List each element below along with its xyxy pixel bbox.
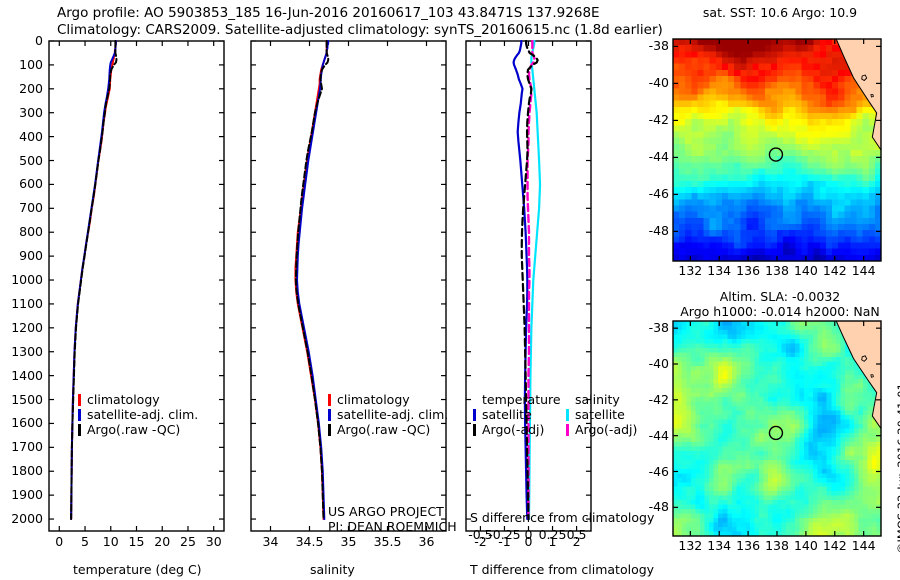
y-tick-label: 2000	[0, 511, 43, 526]
y-tick-label: 700	[0, 200, 43, 215]
y-tick-label: 800	[0, 224, 43, 239]
x-tick-label: 35	[327, 534, 371, 549]
y-tick-label: 100	[0, 57, 43, 72]
temperature-difference-axis-label: T difference from climatology	[470, 562, 654, 577]
legend-item-argo-raw: Argo(.raw -QC)	[78, 422, 198, 437]
sla-map-title-line2: Argo h1000: -0.014 h2000: NaN	[660, 304, 900, 319]
legend-label-climatology-sal: climatology	[337, 392, 410, 407]
map-lat-tick-label: -46	[636, 186, 669, 201]
legend-swatch-argo-adj-temp	[473, 424, 476, 436]
y-tick-label: 1200	[0, 320, 43, 335]
salinity-xaxis-label: salinity	[310, 562, 355, 577]
legend-item-argo-adj-temp: Argo(-adj)	[473, 422, 561, 437]
legend-label-argo-raw: Argo(.raw -QC)	[87, 422, 180, 437]
y-tick-label: 1100	[0, 296, 43, 311]
legend-swatch-satellite-adj-clim-sal	[328, 409, 331, 421]
imos-credit: ©IMOS 22-Jun-2016 20:41:01	[895, 383, 900, 554]
legend-item-satellite-adj-clim: satellite-adj. clim.	[78, 407, 198, 422]
legend-header-salinity: salinity	[566, 392, 637, 407]
legend-swatch-satellite-sal	[566, 409, 569, 421]
sst-map-title: sat. SST: 10.6 Argo: 10.9	[675, 5, 885, 20]
y-tick-label: 1500	[0, 392, 43, 407]
map-lat-tick-label: -38	[636, 38, 669, 53]
map-lat-tick-label: -40	[636, 356, 669, 371]
y-tick-label: 500	[0, 153, 43, 168]
legend-header-temperature: temperature	[473, 392, 561, 407]
legend-swatch-argo-raw-sal	[328, 424, 331, 436]
y-tick-label: 600	[0, 176, 43, 191]
map-lat-tick-label: -46	[636, 464, 669, 479]
legend-label-argo-adj-sal: Argo(-adj)	[575, 422, 637, 437]
temperature-xaxis-label: temperature (deg C)	[73, 562, 202, 577]
legend-item-argo-raw-sal: Argo(.raw -QC)	[328, 422, 448, 437]
legend-item-satellite-adj-clim-sal: satellite-adj. clim.	[328, 407, 448, 422]
map-lat-tick-label: -44	[636, 149, 669, 164]
difference-legend-temperature: temperature satellite Argo(-adj)	[473, 392, 561, 437]
y-tick-label: 1600	[0, 415, 43, 430]
x-tick-label: 34	[249, 534, 293, 549]
header-line-2: Climatology: CARS2009. Satellite-adjuste…	[57, 22, 663, 38]
legend-item-satellite-sal: satellite	[566, 407, 637, 422]
map-lat-tick-label: -42	[636, 112, 669, 127]
sdiff-tick-label: 0.5	[553, 527, 601, 542]
map-lat-tick-label: -40	[636, 75, 669, 90]
legend-label-satellite-temp: satellite	[482, 407, 532, 422]
map-lat-tick-label: -38	[636, 320, 669, 335]
legend-swatch-climatology	[78, 394, 81, 406]
map-lat-tick-label: -42	[636, 392, 669, 407]
y-tick-label: 400	[0, 129, 43, 144]
y-tick-label: 1900	[0, 487, 43, 502]
temperature-legend: climatology satellite-adj. clim. Argo(.r…	[78, 392, 198, 437]
legend-swatch-argo-adj-sal	[566, 424, 569, 436]
map-lon-tick-label: 144	[844, 538, 884, 553]
y-tick-label: 1700	[0, 439, 43, 454]
legend-swatch-climatology-sal	[328, 394, 331, 406]
legend-item-argo-adj-sal: Argo(-adj)	[566, 422, 637, 437]
x-tick-label: 30	[192, 534, 236, 549]
map-lat-tick-label: -48	[636, 223, 669, 238]
legend-label-climatology: climatology	[87, 392, 160, 407]
legend-swatch-argo-raw	[78, 424, 81, 436]
y-tick-label: 200	[0, 81, 43, 96]
salinity-legend: climatology satellite-adj. clim. Argo(.r…	[328, 392, 448, 437]
header-line-1: Argo profile: AO 5903853_185 16-Jun-2016…	[57, 5, 600, 21]
legend-label-argo-raw-sal: Argo(.raw -QC)	[337, 422, 430, 437]
legend-label-argo-adj-temp: Argo(-adj)	[482, 422, 544, 437]
salinity-profile-panel	[250, 40, 447, 532]
y-tick-label: 1800	[0, 463, 43, 478]
y-tick-label: 0	[0, 33, 43, 48]
y-tick-label: 900	[0, 248, 43, 263]
y-tick-label: 300	[0, 105, 43, 120]
legend-swatch-satellite-temp	[473, 409, 476, 421]
legend-header-salinity-label: salinity	[575, 392, 620, 407]
x-tick-label: 34.5	[288, 534, 332, 549]
legend-label-satellite-sal: satellite	[575, 407, 625, 422]
x-tick-label: 36	[405, 534, 449, 549]
legend-item-climatology-sal: climatology	[328, 392, 448, 407]
difference-profile-panel	[465, 40, 592, 532]
legend-header-temperature-label: temperature	[482, 392, 561, 407]
legend-item-satellite-temp: satellite	[473, 407, 561, 422]
map-lat-tick-label: -44	[636, 428, 669, 443]
map-lat-tick-label: -48	[636, 499, 669, 514]
difference-legend-salinity: salinity satellite Argo(-adj)	[566, 392, 637, 437]
sla-map[interactable]	[672, 320, 882, 537]
sst-map[interactable]	[672, 38, 882, 262]
y-tick-label: 1400	[0, 368, 43, 383]
salinity-difference-axis-label: S difference from climatology	[470, 510, 654, 525]
legend-item-climatology: climatology	[78, 392, 198, 407]
sla-map-title-line1: Altim. SLA: -0.0032	[675, 289, 885, 304]
us-argo-project-credit: US ARGO PROJECT	[328, 504, 444, 519]
legend-label-satellite-adj-clim-sal: satellite-adj. clim.	[337, 407, 448, 422]
pi-credit: PI: DEAN ROEMMICH	[328, 519, 457, 534]
x-tick-label: 35.5	[366, 534, 410, 549]
temperature-profile-panel	[48, 40, 225, 532]
y-tick-label: 1000	[0, 272, 43, 287]
y-tick-label: 1300	[0, 344, 43, 359]
legend-label-satellite-adj-clim: satellite-adj. clim.	[87, 407, 198, 422]
map-lon-tick-label: 144	[844, 263, 884, 278]
legend-swatch-satellite-adj-clim	[78, 409, 81, 421]
